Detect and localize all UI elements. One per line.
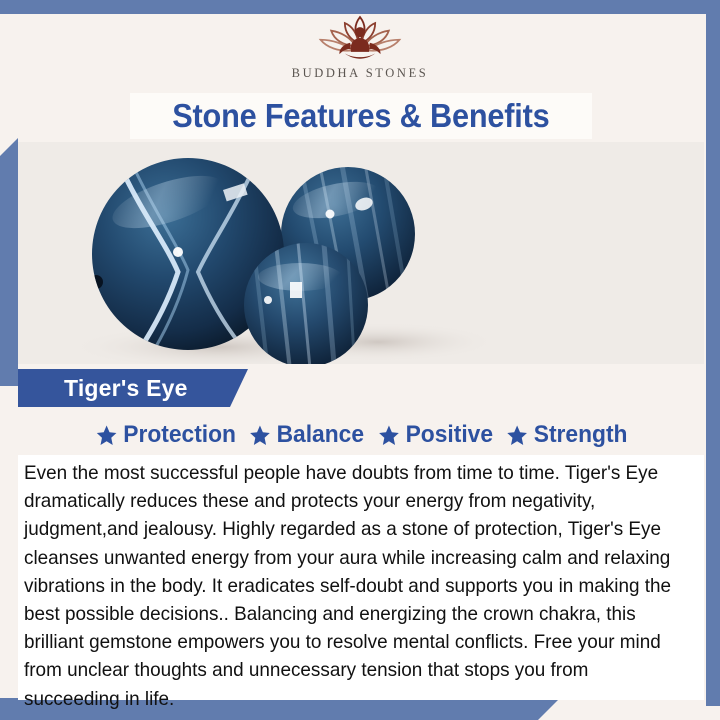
star-icon (249, 424, 271, 447)
stone-name: Tiger's Eye (18, 375, 188, 402)
lotus-meditation-figure-icon (314, 14, 406, 64)
star-icon (95, 424, 117, 447)
stone-name-ribbon: Tiger's Eye (18, 369, 248, 407)
frame-right-bar (706, 0, 720, 706)
frame-left-bar (0, 138, 18, 386)
stone-photo (18, 142, 704, 364)
title-banner: Stone Features & Benefits (130, 93, 592, 139)
benefit-item-strength: Strength (506, 421, 627, 449)
stone-photo-illustration (18, 142, 704, 364)
frame-top-bar (0, 0, 720, 14)
benefit-item-protection: Protection (95, 421, 235, 449)
description-text: Even the most successful people have dou… (24, 459, 673, 713)
page-title: Stone Features & Benefits (172, 97, 549, 135)
star-icon (378, 424, 400, 447)
benefit-label: Balance (277, 421, 364, 449)
stone-features-infographic: BUDDHA STONES Stone Features & Benefits (0, 0, 720, 720)
brand-logo: BUDDHA STONES (0, 14, 720, 90)
benefit-label: Strength (533, 421, 627, 449)
benefit-label: Positive (405, 421, 492, 449)
description-panel: Even the most successful people have dou… (18, 455, 704, 700)
star-icon (506, 424, 528, 447)
benefit-label: Protection (123, 421, 236, 449)
brand-name: BUDDHA STONES (292, 66, 429, 81)
benefit-item-positive: Positive (378, 421, 493, 449)
benefit-item-balance: Balance (249, 421, 364, 449)
benefits-list: Protection Balance Positive Strength (18, 416, 704, 454)
